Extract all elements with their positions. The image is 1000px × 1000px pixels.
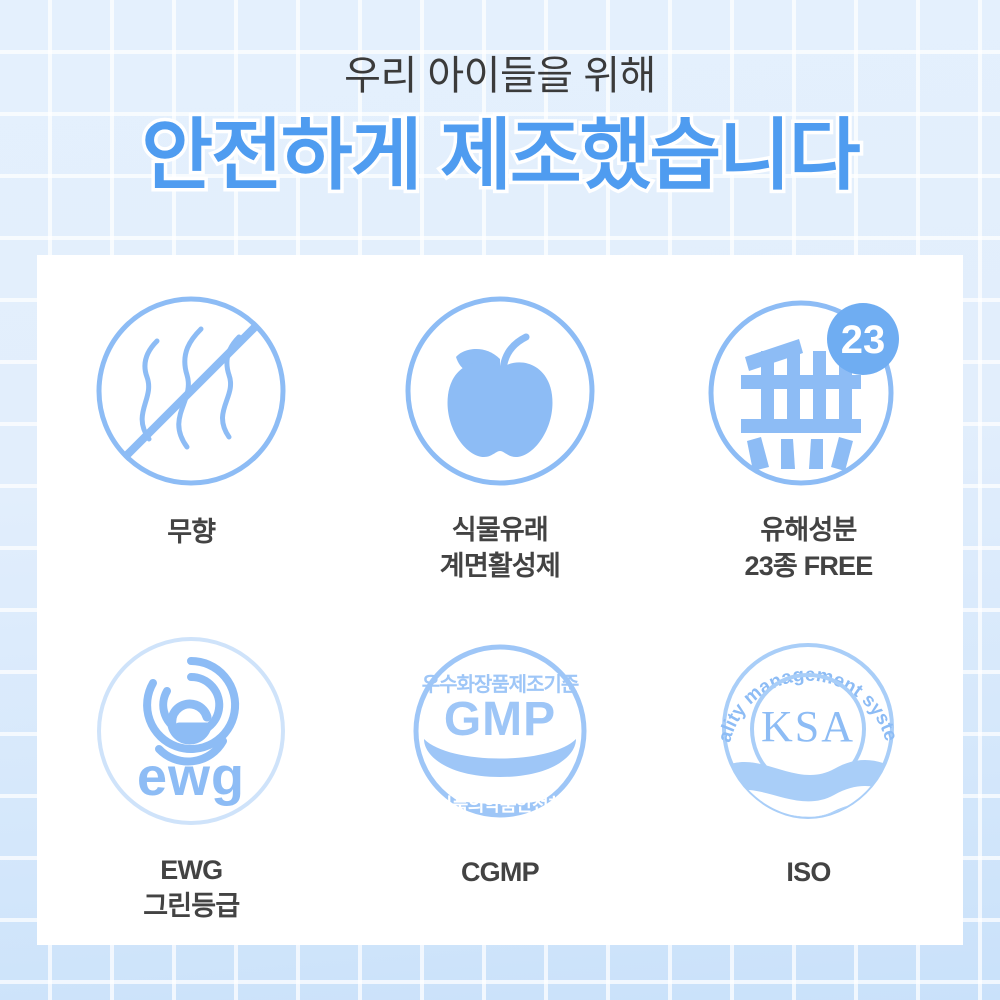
badge-row-1: 무향 식물유래 계면활성제 <box>37 281 963 584</box>
mu-character-icon: 23 <box>703 281 913 501</box>
gmp-bottom-text: 식품의약품안전처 <box>436 794 564 815</box>
gmp-main-text: GMP <box>444 693 556 746</box>
page-title: 안전하게 제조했습니다 <box>0 98 1000 199</box>
ksa-main-text: KSA <box>761 702 855 751</box>
no-fragrance-icon <box>91 281 291 501</box>
poster-root: 우리 아이들을 위해 안전하게 제조했습니다 무향 <box>0 0 1000 1000</box>
badge-row-2: ewg EWG 그린등급 우수화장품제조기준 GMP <box>37 621 963 924</box>
badge-fragrance-free: 무향 <box>37 281 346 584</box>
header-block: 우리 아이들을 위해 안전하게 제조했습니다 <box>0 0 1000 199</box>
badge-caption: 무향 <box>167 515 215 551</box>
ewg-logo-text: ewg <box>137 747 245 807</box>
gmp-seal-icon: 우수화장품제조기준 GMP 식품의약품안전처 <box>400 621 600 841</box>
badge-card: 무향 식물유래 계면활성제 <box>37 255 963 945</box>
badge-iso: Quality management systems KSA ISO <box>654 621 963 924</box>
badge-caption: ISO <box>786 855 830 891</box>
ewg-logo-icon: ewg <box>91 621 291 841</box>
badge-number: 23 <box>841 318 886 362</box>
badge-caption: 식물유래 계면활성제 <box>440 513 560 584</box>
badge-cgmp: 우수화장품제조기준 GMP 식품의약품안전처 CGMP <box>346 621 655 924</box>
badge-caption: 유해성분 23종 FREE <box>744 513 872 584</box>
badge-ewg: ewg EWG 그린등급 <box>37 621 346 924</box>
apple-icon <box>400 281 600 501</box>
badge-caption: EWG 그린등급 <box>143 853 239 924</box>
badge-plant-surfactant: 식물유래 계면활성제 <box>346 281 655 584</box>
badge-harmful-free: 23 유해성분 23종 FREE <box>654 281 963 584</box>
ksa-seal-icon: Quality management systems KSA <box>708 621 908 841</box>
badge-caption: CGMP <box>461 855 539 891</box>
subtitle: 우리 아이들을 위해 <box>0 0 1000 98</box>
